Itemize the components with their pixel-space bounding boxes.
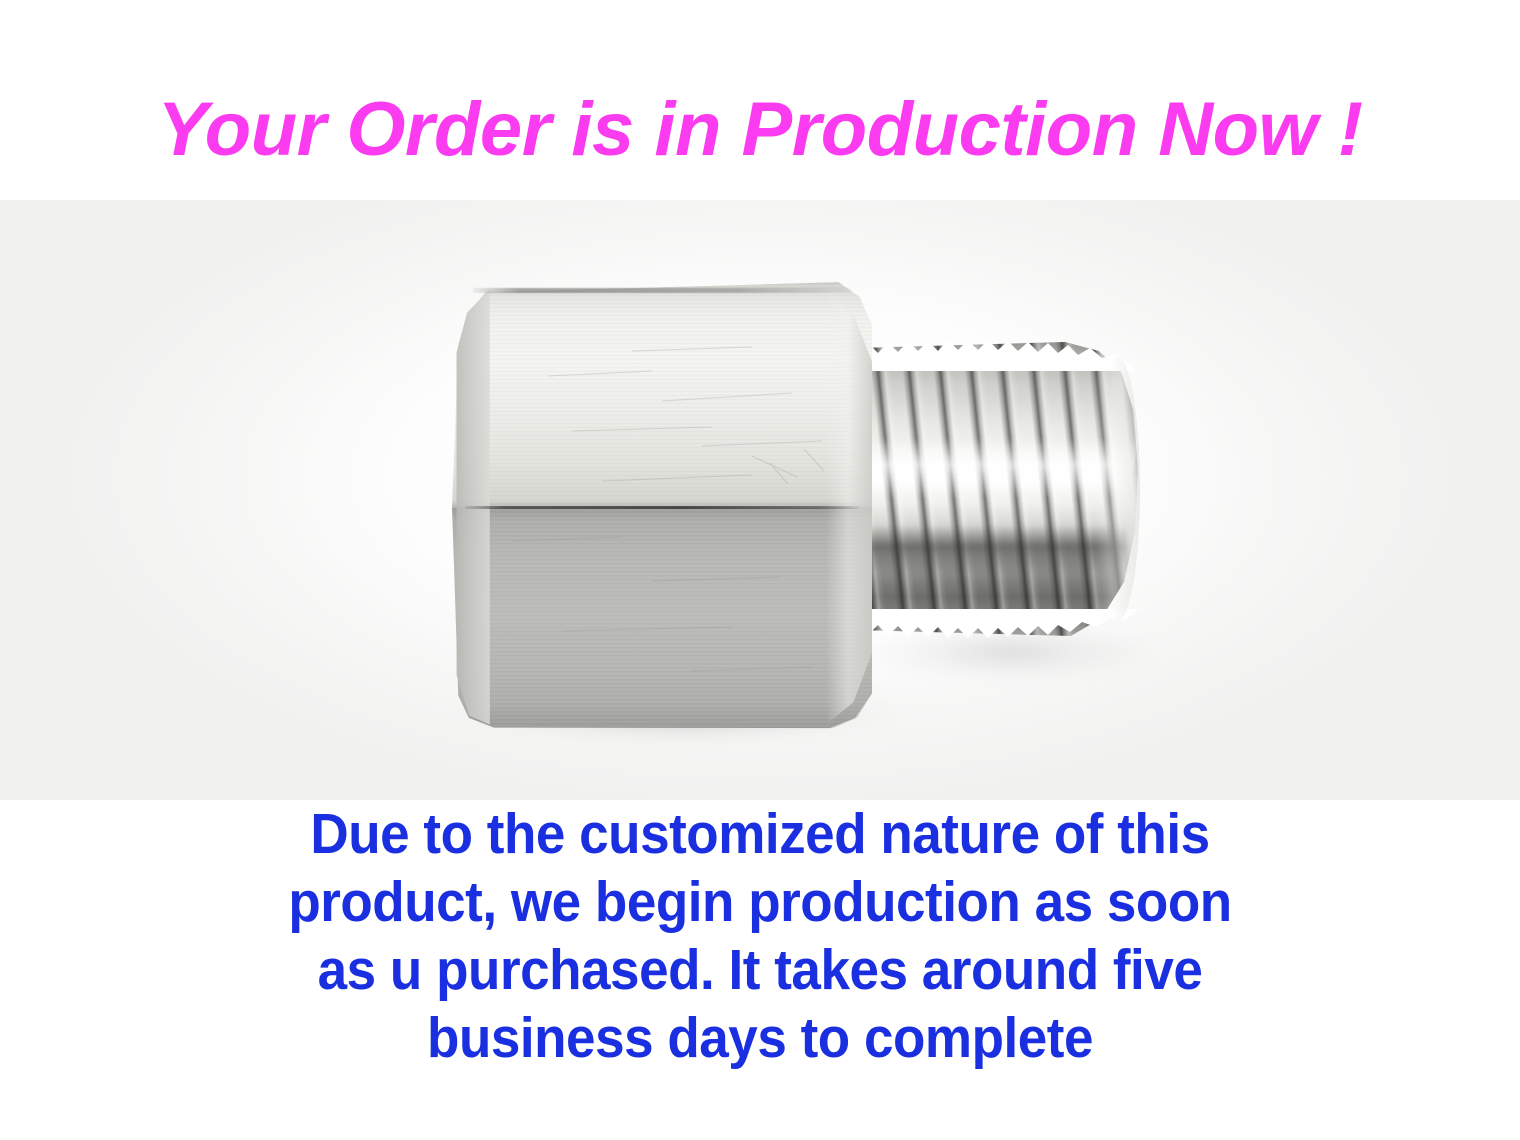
- promo-image-canvas: Your Order is in Production Now !: [0, 0, 1520, 1140]
- notice-line-2: product, we begin production as soon: [53, 868, 1467, 936]
- thread-shadow-band: [858, 525, 1127, 573]
- threaded-nipple: [858, 339, 1138, 639]
- hex-facet-edge-line: [465, 506, 860, 509]
- product-photo: [440, 255, 1160, 735]
- production-notice: Due to the customized nature of this pro…: [53, 800, 1467, 1072]
- thread-end-cap: [1095, 357, 1140, 621]
- hex-coupling-body: [452, 281, 872, 729]
- notice-line-3: as u purchased. It takes around five: [53, 936, 1467, 1004]
- page-title: Your Order is in Production Now !: [0, 92, 1520, 168]
- notice-line-4: business days to complete: [53, 1004, 1467, 1072]
- notice-line-1: Due to the customized nature of this: [53, 800, 1467, 868]
- hex-top-edge-line: [473, 288, 851, 293]
